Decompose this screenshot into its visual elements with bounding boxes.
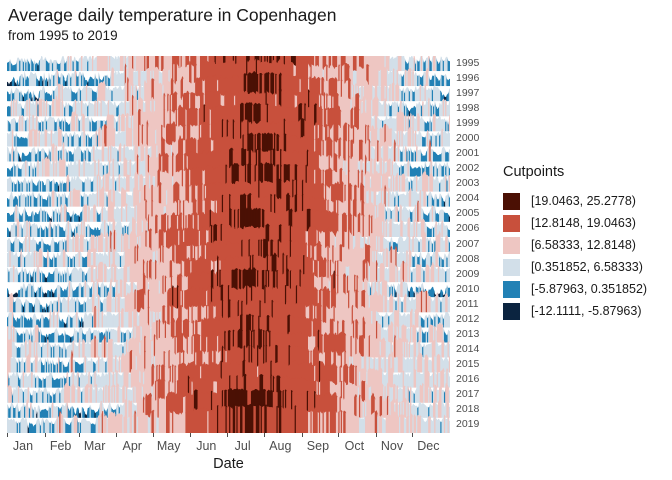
legend: Cutpoints [19.0463, 25.2778)[12.8148, 19… xyxy=(503,163,647,322)
year-axis-label: 2010 xyxy=(456,284,479,295)
year-axis-label: 1996 xyxy=(456,73,479,84)
legend-label: [12.8148, 19.0463) xyxy=(531,216,636,231)
legend-items: [19.0463, 25.2778)[12.8148, 19.0463)[6.5… xyxy=(503,190,647,322)
legend-title: Cutpoints xyxy=(503,163,647,181)
ridgeline-chart-page: Average daily temperature in Copenhagen … xyxy=(0,0,672,480)
month-tick xyxy=(45,433,46,437)
legend-item[interactable]: [-12.1111, -5.87963) xyxy=(503,300,647,322)
page-subtitle: from 1995 to 2019 xyxy=(8,26,337,45)
year-axis-label: 2018 xyxy=(456,404,479,415)
month-tick xyxy=(264,433,265,437)
year-axis-label: 1997 xyxy=(456,88,479,99)
legend-swatch xyxy=(503,303,520,320)
month-tick xyxy=(190,433,191,437)
month-axis-label: Feb xyxy=(50,439,72,454)
month-tick xyxy=(302,433,303,437)
legend-item[interactable]: [19.0463, 25.2778) xyxy=(503,190,647,212)
month-axis-label: Aug xyxy=(269,439,291,454)
year-axis-label: 2006 xyxy=(456,223,479,234)
year-axis-label: 2007 xyxy=(456,239,479,250)
month-axis: JanFebMarAprMayJunJulAugSepOctNovDec xyxy=(7,433,450,455)
year-axis-label: 2014 xyxy=(456,344,479,355)
legend-label: [0.351852, 6.58333) xyxy=(531,260,643,275)
month-tick xyxy=(79,433,80,437)
year-axis-label: 2013 xyxy=(456,329,479,340)
legend-swatch xyxy=(503,259,520,276)
month-axis-label: Jun xyxy=(196,439,216,454)
year-axis-label: 2001 xyxy=(456,148,479,159)
year-axis-label: 2002 xyxy=(456,163,479,174)
year-axis-label: 2000 xyxy=(456,133,479,144)
month-tick xyxy=(227,433,228,437)
year-axis-label: 2015 xyxy=(456,359,479,370)
month-tick xyxy=(338,433,339,437)
year-axis-label: 2017 xyxy=(456,389,479,400)
legend-swatch xyxy=(503,237,520,254)
legend-label: [19.0463, 25.2778) xyxy=(531,194,636,209)
year-axis-label: 2016 xyxy=(456,374,479,385)
month-axis-label: Jul xyxy=(235,439,251,454)
year-axis-label: 1995 xyxy=(456,58,479,69)
month-tick xyxy=(376,433,377,437)
legend-label: [-5.87963, 0.351852) xyxy=(531,282,647,297)
month-tick xyxy=(116,433,117,437)
legend-swatch xyxy=(503,281,520,298)
month-axis-label: Jan xyxy=(13,439,33,454)
year-axis-label: 2009 xyxy=(456,269,479,280)
month-axis-label: Dec xyxy=(417,439,439,454)
year-axis-label: 2011 xyxy=(456,299,479,310)
month-tick xyxy=(153,433,154,437)
year-axis-label: 2019 xyxy=(456,419,479,430)
year-axis-label: 2005 xyxy=(456,208,479,219)
month-axis-label: Nov xyxy=(381,439,403,454)
title-block: Average daily temperature in Copenhagen … xyxy=(8,4,337,45)
legend-item[interactable]: [0.351852, 6.58333) xyxy=(503,256,647,278)
month-axis-label: Sep xyxy=(307,439,329,454)
year-axis-label: 1998 xyxy=(456,103,479,114)
year-axis-label: 2008 xyxy=(456,254,479,265)
year-axis-label: 1999 xyxy=(456,118,479,129)
legend-label: [6.58333, 12.8148) xyxy=(531,238,636,253)
x-axis-title: Date xyxy=(7,455,450,473)
month-axis-label: Mar xyxy=(84,439,106,454)
legend-item[interactable]: [12.8148, 19.0463) xyxy=(503,212,647,234)
page-title: Average daily temperature in Copenhagen xyxy=(8,4,337,26)
plot-panel xyxy=(7,56,450,433)
year-axis-label: 2003 xyxy=(456,178,479,189)
legend-swatch xyxy=(503,193,520,210)
year-axis-label: 2004 xyxy=(456,193,479,204)
year-axis: 1995199619971998199920002001200220032004… xyxy=(452,56,496,433)
month-axis-label: Oct xyxy=(345,439,364,454)
legend-item[interactable]: [-5.87963, 0.351852) xyxy=(503,278,647,300)
year-axis-label: 2012 xyxy=(456,314,479,325)
month-tick xyxy=(412,433,413,437)
month-axis-label: Apr xyxy=(122,439,141,454)
ridgeline-canvas xyxy=(7,56,450,433)
legend-swatch xyxy=(503,215,520,232)
month-tick xyxy=(7,433,8,437)
legend-label: [-12.1111, -5.87963) xyxy=(531,304,642,319)
month-axis-label: May xyxy=(157,439,181,454)
legend-item[interactable]: [6.58333, 12.8148) xyxy=(503,234,647,256)
